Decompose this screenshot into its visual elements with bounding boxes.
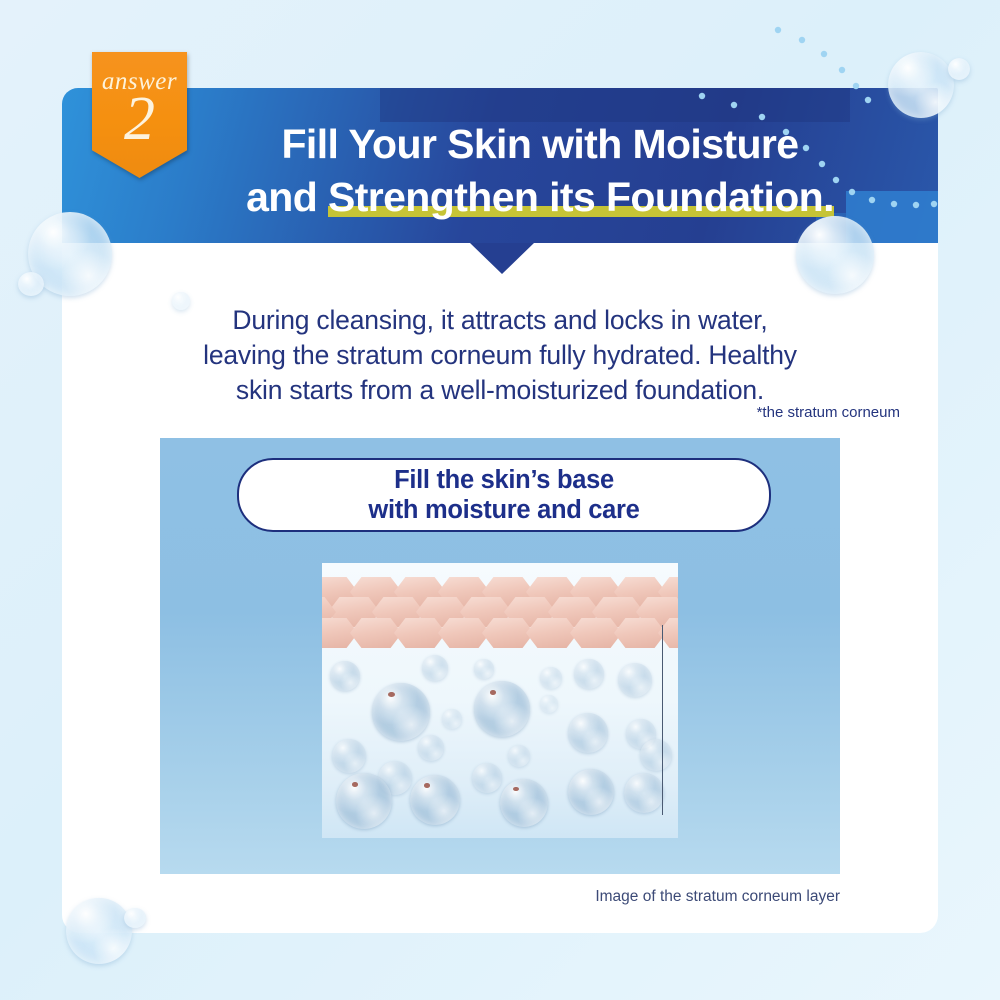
title-line-2: and Strengthen its Foundation. <box>190 171 890 224</box>
illustration-panel: Fill the skin’s base with moisture and c… <box>160 438 840 874</box>
water-bubble <box>540 695 558 713</box>
decorative-bubble <box>18 272 44 296</box>
water-bubble <box>418 735 444 761</box>
decorative-bubble <box>172 292 190 310</box>
water-bubble <box>330 661 360 691</box>
title-line-1: Fill Your Skin with Moisture <box>190 118 890 171</box>
water-bubble <box>410 775 460 825</box>
water-bubble <box>624 773 664 813</box>
callout-line-2: with moisture and care <box>368 495 639 525</box>
decorative-bubble <box>948 58 970 80</box>
water-bubble <box>640 739 672 771</box>
lead-line-2: leaving the stratum corneum fully hydrat… <box>92 338 908 373</box>
water-bubble <box>508 745 530 767</box>
water-bubble <box>540 667 562 689</box>
title-line-2-highlighted: Strengthen its Foundation. <box>328 174 834 220</box>
lead-line-1: During cleansing, it attracts and locks … <box>92 303 908 338</box>
water-bubble <box>332 739 366 773</box>
water-bubble <box>568 769 614 815</box>
water-bubble <box>618 663 652 697</box>
water-bubble <box>474 659 494 679</box>
callout-text: Fill the skin’s base with moisture and c… <box>368 465 639 525</box>
page-title: Fill Your Skin with Moisture and Strengt… <box>190 118 890 224</box>
decorative-bubble <box>796 216 874 294</box>
water-bubble <box>472 763 502 793</box>
water-bubble <box>568 713 608 753</box>
answer-badge: answer 2 <box>92 52 187 178</box>
illustration-caption: Image of the stratum corneum layer <box>160 888 840 906</box>
water-bubble <box>336 773 392 829</box>
callout-line-1: Fill the skin’s base <box>368 465 639 495</box>
water-bubble <box>442 709 462 729</box>
decorative-bubble <box>888 52 954 118</box>
lead-paragraph: During cleansing, it attracts and locks … <box>92 303 908 408</box>
skin-cell-row <box>322 618 678 648</box>
lead-footnote: *the stratum corneum <box>757 404 900 421</box>
title-line-2-plain: and <box>246 174 328 220</box>
callout-box: Fill the skin’s base with moisture and c… <box>237 458 771 532</box>
banner-pointer-triangle <box>470 243 534 274</box>
water-bubble <box>500 779 548 827</box>
decorative-bubble <box>66 898 132 964</box>
poster-page: answer 2 Fill Your Skin with Moisture an… <box>0 0 1000 1000</box>
water-bubble <box>474 681 530 737</box>
decorative-bubble <box>124 908 146 928</box>
stratum-corneum-photo <box>322 563 678 838</box>
badge-answer-number: 2 <box>92 88 187 150</box>
callout-leader-line <box>662 625 663 815</box>
water-bubble <box>574 659 604 689</box>
lead-line-3: skin starts from a well-moisturized foun… <box>92 373 908 408</box>
water-bubble <box>372 683 430 741</box>
water-bubble <box>422 655 448 681</box>
